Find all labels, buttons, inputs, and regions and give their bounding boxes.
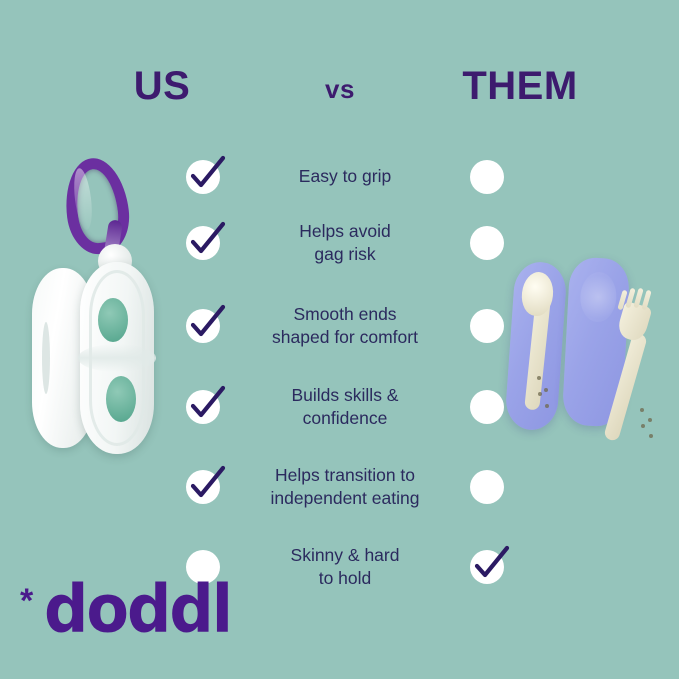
fork-hole xyxy=(648,418,652,422)
comparison-row: Smooth ends shaped for comfort xyxy=(186,288,504,364)
feature-label: Skinny & hard to hold xyxy=(220,544,470,590)
checkbox-circle xyxy=(470,226,504,260)
checkbox-them-row-2 xyxy=(470,309,504,343)
feature-label: Easy to grip xyxy=(220,165,470,188)
checkbox-us-row-2 xyxy=(186,309,220,343)
spoon-hole xyxy=(544,388,548,392)
checkbox-them-row-3 xyxy=(470,390,504,424)
comparison-row: Helps transition to independent eating xyxy=(186,448,504,526)
checkbox-them-row-5 xyxy=(470,550,504,584)
header-us: US xyxy=(92,66,232,106)
case-window-bottom xyxy=(106,376,136,422)
clip-loop-icon xyxy=(60,155,133,258)
comparison-row: Skinny & hard to hold xyxy=(186,530,504,604)
comparison-row: Helps avoid gag risk xyxy=(186,206,504,280)
checkbox-us-row-4 xyxy=(186,470,220,504)
checkbox-them-row-1 xyxy=(470,226,504,260)
header-them: THEM xyxy=(430,66,610,106)
checkbox-circle xyxy=(470,470,504,504)
comparison-row: Easy to grip xyxy=(186,148,504,206)
checkbox-us-row-3 xyxy=(186,390,220,424)
brand-wordmark: doddl xyxy=(44,576,231,642)
checkbox-them-row-0 xyxy=(470,160,504,194)
checkbox-us-row-0 xyxy=(186,160,220,194)
check-icon xyxy=(183,152,229,198)
feature-label: Helps transition to independent eating xyxy=(220,464,470,510)
spoon-hole xyxy=(537,376,541,380)
product-image-competitor xyxy=(508,258,668,458)
comparison-row: Builds skills & confidence xyxy=(186,370,504,444)
header-vs: vs xyxy=(272,76,408,102)
check-icon xyxy=(183,301,229,347)
fork-hole xyxy=(640,408,644,412)
spoon-hole xyxy=(545,404,549,408)
checkbox-them-row-4 xyxy=(470,470,504,504)
check-icon xyxy=(183,382,229,428)
feature-label: Helps avoid gag risk xyxy=(220,220,470,266)
feature-label: Smooth ends shaped for comfort xyxy=(220,303,470,349)
fork-tine xyxy=(641,290,651,311)
spoon-hole xyxy=(538,392,542,396)
fork-hole xyxy=(641,424,645,428)
asterisk-icon: * xyxy=(20,584,33,618)
feature-label: Builds skills & confidence xyxy=(220,384,470,430)
checkbox-us-row-1 xyxy=(186,226,220,260)
checkbox-circle xyxy=(470,160,504,194)
check-icon xyxy=(467,542,513,588)
fork-hole xyxy=(649,434,653,438)
check-icon xyxy=(183,218,229,264)
comparison-poster: US vs THEM Easy to gripHel xyxy=(0,0,679,679)
header: US vs THEM xyxy=(0,62,679,120)
case-window-top xyxy=(98,298,128,342)
check-icon xyxy=(183,462,229,508)
checkbox-circle xyxy=(470,309,504,343)
brand-logo: * doddl xyxy=(20,580,210,660)
product-image-doddl xyxy=(28,158,178,458)
case-waist-shadow xyxy=(78,344,156,372)
checkbox-circle xyxy=(470,390,504,424)
